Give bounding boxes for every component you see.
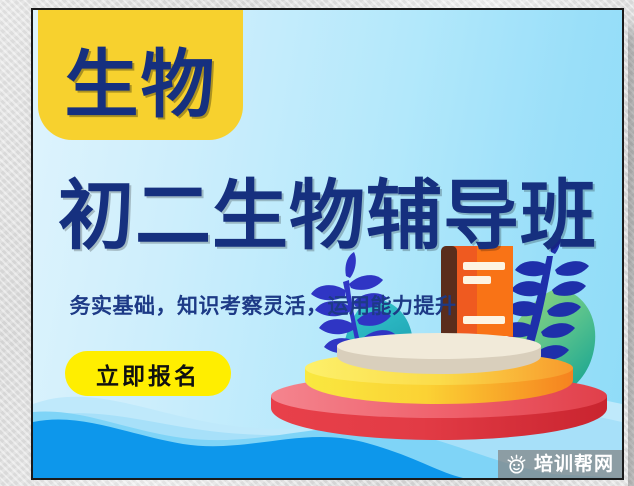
- podium-illustration: [253, 240, 622, 455]
- image-frame: 生物 初二生物辅导班 务实基础，知识考察灵活，运用能力提升 立即报名: [0, 0, 634, 486]
- subtitle-text: 务实基础，知识考察灵活，运用能力提升: [33, 296, 493, 317]
- podium-top: [337, 333, 541, 374]
- subject-badge-label: 生物: [65, 48, 217, 140]
- course-promo-banner: 生物 初二生物辅导班 务实基础，知识考察灵活，运用能力提升 立即报名: [31, 8, 624, 480]
- enroll-now-label: 立即报名: [96, 357, 200, 391]
- watermark-label: 培训帮网: [534, 455, 614, 474]
- page-title: 初二生物辅导班: [33, 178, 622, 254]
- watermark: 培训帮网: [498, 450, 624, 480]
- subject-badge: 生物: [38, 8, 243, 140]
- enroll-now-button[interactable]: 立即报名: [65, 351, 231, 396]
- sun-face-icon: [506, 454, 527, 475]
